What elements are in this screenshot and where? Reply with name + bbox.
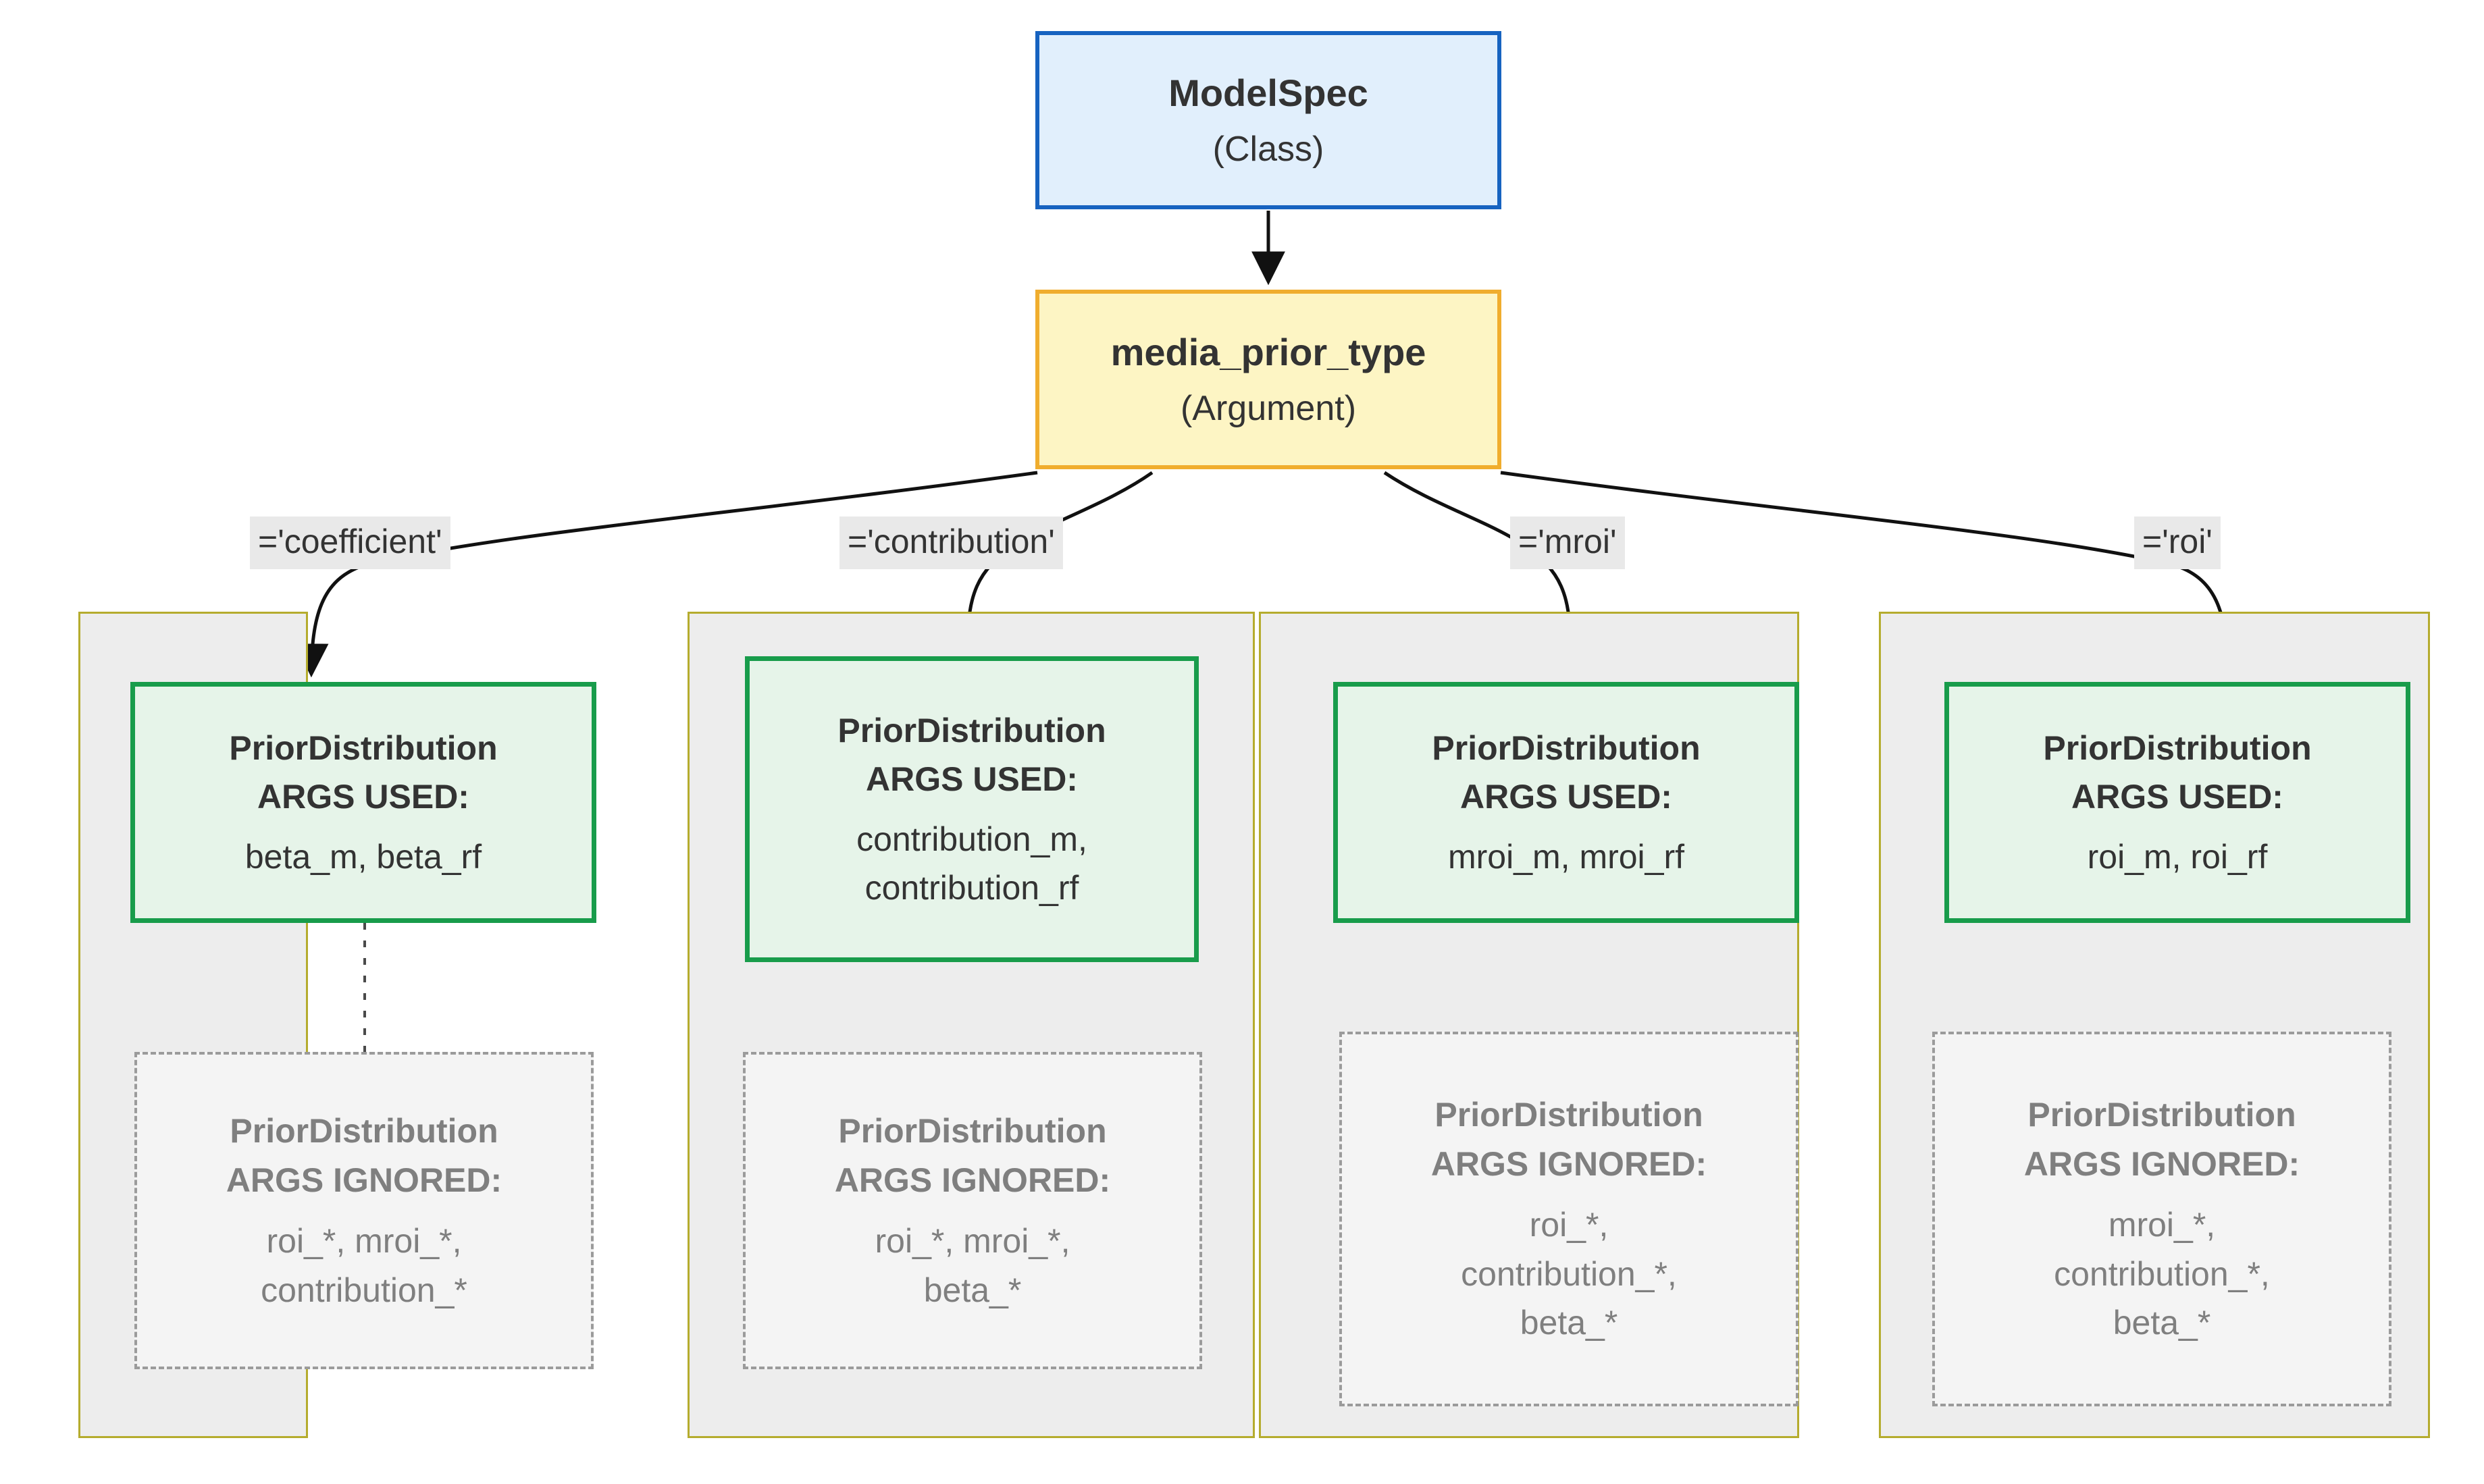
used-args-line: contribution_rf — [865, 864, 1079, 913]
ignored-heading-1: PriorDistribution — [1434, 1090, 1703, 1140]
used-args-line: contribution_m, — [856, 815, 1087, 864]
ignored-args-line: contribution_* — [261, 1266, 467, 1315]
ignored-heading-2: ARGS IGNORED: — [226, 1156, 502, 1205]
ignored-heading-1: PriorDistribution — [2027, 1090, 2296, 1140]
edge-label-coefficient: ='coefficient' — [250, 516, 450, 569]
ignored-heading-2: ARGS IGNORED: — [835, 1156, 1110, 1205]
ignored-args-line: roi_*, mroi_*, — [267, 1217, 462, 1266]
ignored-heading-1: PriorDistribution — [230, 1107, 498, 1156]
used-box-mroi[interactable]: PriorDistribution ARGS USED: mroi_m, mro… — [1333, 682, 1799, 923]
used-heading-2: ARGS USED: — [257, 772, 469, 822]
used-box-contribution[interactable]: PriorDistribution ARGS USED: contributio… — [745, 656, 1199, 962]
ignored-args-line: roi_*, mroi_*, — [875, 1217, 1070, 1266]
used-heading-1: PriorDistribution — [229, 724, 497, 773]
ignored-args-line: contribution_*, — [2054, 1250, 2270, 1299]
ignored-box-roi[interactable]: PriorDistribution ARGS IGNORED: mroi_*, … — [1932, 1032, 2391, 1406]
ignored-args-line: beta_* — [2113, 1298, 2211, 1348]
ignored-args-line: beta_* — [1520, 1298, 1618, 1348]
argument-title: media_prior_type — [1111, 328, 1426, 377]
ignored-args-line: mroi_*, — [2108, 1200, 2215, 1250]
used-args-line: beta_m, beta_rf — [245, 832, 482, 882]
modelspec-subtitle: (Class) — [1213, 127, 1324, 172]
used-heading-1: PriorDistribution — [837, 706, 1106, 756]
used-box-roi[interactable]: PriorDistribution ARGS USED: roi_m, roi_… — [1944, 682, 2410, 923]
used-args-line: mroi_m, mroi_rf — [1448, 832, 1684, 882]
ignored-heading-2: ARGS IGNORED: — [1431, 1140, 1707, 1189]
ignored-box-coefficient[interactable]: PriorDistribution ARGS IGNORED: roi_*, m… — [134, 1052, 594, 1369]
diagram-canvas: ModelSpec (Class) media_prior_type (Argu… — [0, 0, 2484, 1484]
edge-label-roi: ='roi' — [2134, 516, 2221, 569]
used-heading-2: ARGS USED: — [866, 755, 1078, 804]
used-heading-2: ARGS USED: — [1460, 772, 1672, 822]
used-heading-1: PriorDistribution — [2043, 724, 2311, 773]
modelspec-title: ModelSpec — [1168, 69, 1368, 117]
ignored-args-line: beta_* — [924, 1266, 1022, 1315]
ignored-args-line: roi_*, — [1530, 1200, 1609, 1250]
edge-label-contribution: ='contribution' — [839, 516, 1063, 569]
used-box-coefficient[interactable]: PriorDistribution ARGS USED: beta_m, bet… — [130, 682, 596, 923]
edge-label-mroi: ='mroi' — [1510, 516, 1625, 569]
used-heading-2: ARGS USED: — [2071, 772, 2283, 822]
ignored-heading-2: ARGS IGNORED: — [2024, 1140, 2300, 1189]
node-media-prior-type[interactable]: media_prior_type (Argument) — [1035, 290, 1501, 469]
used-heading-1: PriorDistribution — [1432, 724, 1700, 773]
ignored-box-contribution[interactable]: PriorDistribution ARGS IGNORED: roi_*, m… — [743, 1052, 1202, 1369]
used-args-line: roi_m, roi_rf — [2088, 832, 2268, 882]
ignored-args-line: contribution_*, — [1461, 1250, 1677, 1299]
ignored-heading-1: PriorDistribution — [838, 1107, 1106, 1156]
argument-subtitle: (Argument) — [1181, 386, 1356, 431]
ignored-box-mroi[interactable]: PriorDistribution ARGS IGNORED: roi_*, c… — [1339, 1032, 1799, 1406]
node-modelspec[interactable]: ModelSpec (Class) — [1035, 31, 1501, 209]
